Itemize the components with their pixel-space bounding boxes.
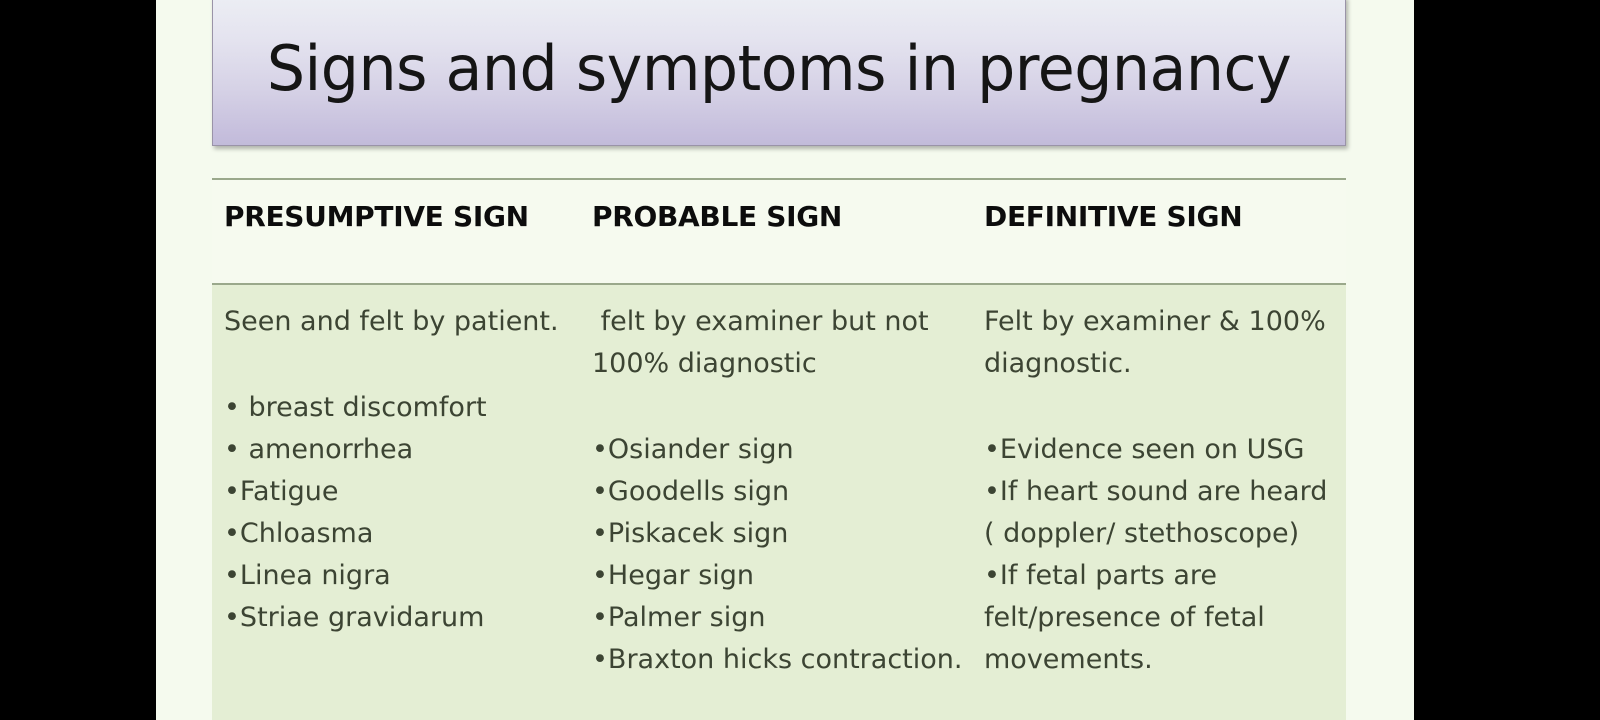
column-header-presumptive: PRESUMPTIVE SIGN [212,194,592,233]
list-item: •If fetal parts are felt/presence of fet… [984,555,1346,681]
list-item: •Osiander sign [592,429,970,471]
letterbox-bar-right [1414,0,1600,720]
list-item: •If heart sound are heard ( doppler/ ste… [984,471,1346,555]
list-item: •Piskacek sign [592,513,970,555]
signs-comparison-table: PRESUMPTIVE SIGN PROBABLE SIGN DEFINITIV… [212,178,1346,720]
list-item: • breast discomfort [224,387,592,429]
slide-canvas: Signs and symptoms in pregnancy PRESUMPT… [156,0,1414,720]
presumptive-intro: Seen and felt by patient. [224,301,592,343]
page-title: Signs and symptoms in pregnancy [267,32,1291,105]
table-cell-presumptive: Seen and felt by patient. • breast disco… [212,301,592,720]
list-item: •Braxton hicks contraction. [592,639,970,681]
slide-title-banner: Signs and symptoms in pregnancy [212,0,1346,146]
screenshot-stage: Signs and symptoms in pregnancy PRESUMPT… [0,0,1600,720]
list-item: • amenorrhea [224,429,592,471]
column-header-probable: PROBABLE SIGN [592,194,970,233]
table-cell-definitive: Felt by examiner & 100% diagnostic. •Evi… [970,301,1346,720]
list-item: •Striae gravidarum [224,597,592,639]
list-item: •Hegar sign [592,555,970,597]
table-cell-probable: felt by examiner but not 100% diagnostic… [592,301,970,720]
list-item: •Goodells sign [592,471,970,513]
presumptive-list: • breast discomfort • amenorrhea •Fatigu… [224,387,592,639]
list-item: •Evidence seen on USG [984,429,1346,471]
list-item: •Chloasma [224,513,592,555]
list-item: •Palmer sign [592,597,970,639]
column-header-definitive: DEFINITIVE SIGN [970,194,1346,233]
probable-list: •Osiander sign •Goodells sign •Piskacek … [592,429,970,681]
list-item: •Linea nigra [224,555,592,597]
letterbox-bar-left [0,0,156,720]
table-header-row: PRESUMPTIVE SIGN PROBABLE SIGN DEFINITIV… [212,180,1346,283]
probable-intro: felt by examiner but not 100% diagnostic [592,301,970,385]
definitive-list: •Evidence seen on USG •If heart sound ar… [984,429,1346,681]
list-item: •Fatigue [224,471,592,513]
table-body-row: Seen and felt by patient. • breast disco… [212,285,1346,720]
definitive-intro: Felt by examiner & 100% diagnostic. [984,301,1346,385]
